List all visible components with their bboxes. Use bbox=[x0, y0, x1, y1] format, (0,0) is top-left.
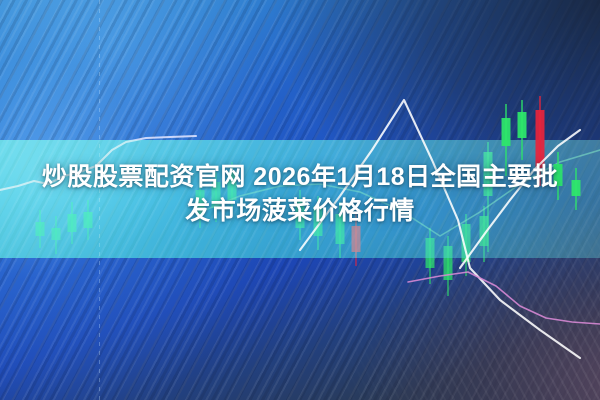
stock-news-banner: 炒股股票配资官网 2026年1月18日全国主要批 发市场菠菜价格行情 bbox=[0, 0, 600, 400]
trend-line-group-foreground bbox=[300, 100, 600, 358]
banner-headline: 炒股股票配资官网 2026年1月18日全国主要批 发市场菠菜价格行情 bbox=[0, 160, 600, 228]
